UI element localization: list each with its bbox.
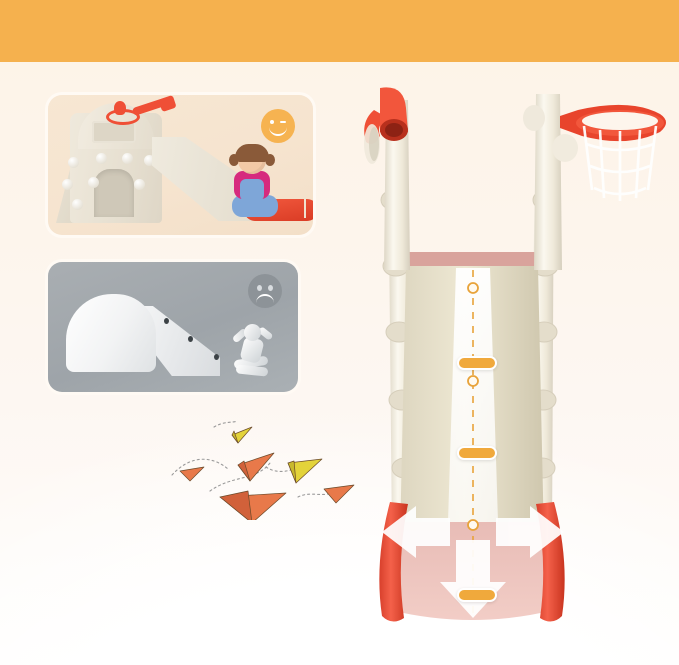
chart-plot-area: [14, 505, 344, 655]
climb-knob: [134, 179, 145, 190]
zone-badge-buffering: [457, 588, 497, 602]
climb-knob: [88, 177, 99, 188]
telescope-toy-icon: [132, 97, 176, 115]
slide-product-photo: [330, 70, 679, 665]
measure-tick: [304, 196, 306, 218]
zone-badge-acceleration: [457, 356, 497, 370]
climb-knob: [68, 157, 79, 168]
infographic-canvas: [0, 0, 679, 665]
playhouse-door: [94, 169, 134, 217]
mini-ball-icon: [114, 101, 126, 115]
slide-rivet: [214, 354, 219, 360]
header-banner: [0, 0, 679, 62]
smiley-wink-icon: [261, 109, 295, 143]
climb-knob: [96, 153, 107, 164]
climb-knob: [122, 153, 133, 164]
slide-rivet: [164, 318, 169, 324]
frowny-icon: [248, 274, 282, 308]
grey-slide-body: [66, 294, 156, 372]
good-design-photo: [48, 95, 313, 235]
slide-rivet: [188, 336, 193, 342]
zone-badge-deceleration: [457, 446, 497, 460]
child-sliding-illustration: [224, 147, 280, 219]
speed-distance-chart: [14, 505, 344, 655]
bad-design-photo: [48, 262, 298, 392]
climb-knob: [62, 179, 73, 190]
climb-knob: [72, 199, 83, 210]
fallen-doll-illustration: [230, 324, 278, 376]
